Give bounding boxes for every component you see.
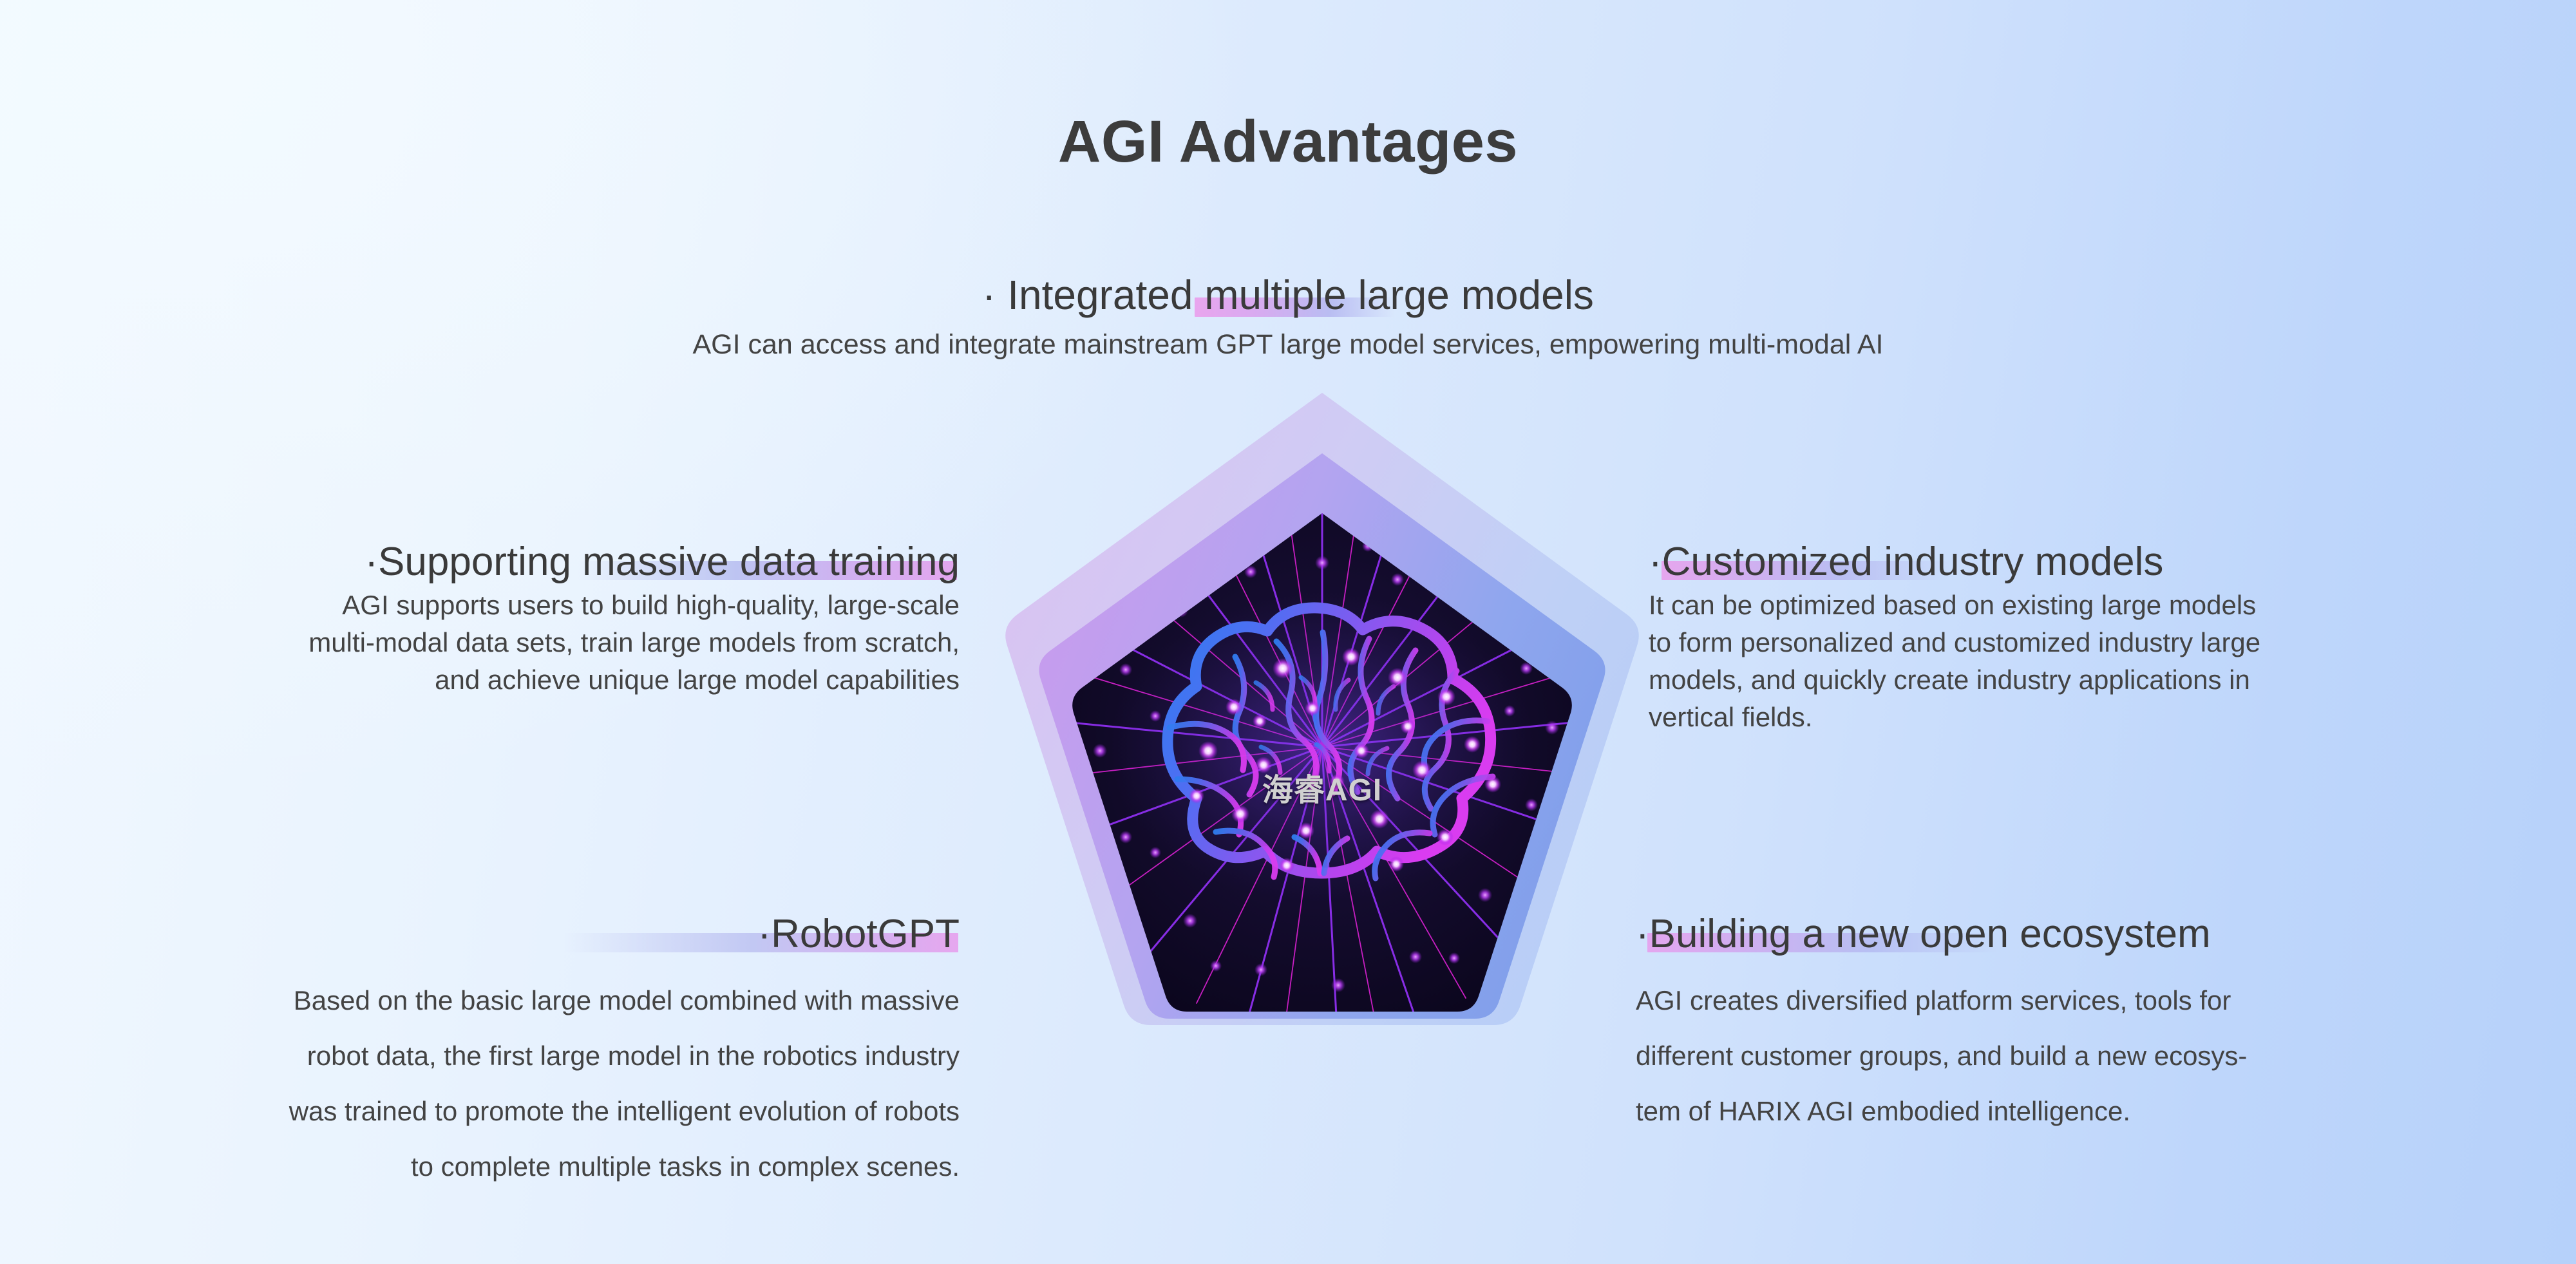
- section-heading-top: · Integrated multiple large models: [982, 274, 1594, 317]
- body-line: was trained to promote the intelligent e…: [26, 1084, 960, 1139]
- section-body-right-mid: It can be optimized based on existing la…: [1649, 587, 2486, 736]
- bullet-marker: ·: [1649, 540, 1662, 584]
- section-customized-industry-models: ·Customized industry models It can be op…: [1649, 541, 2486, 736]
- infographic-canvas: AGI Advantages · Integrated multiple lar…: [0, 0, 2576, 1264]
- body-line: vertical fields.: [1649, 699, 2486, 736]
- section-body-top: AGI can access and integrate mainstream …: [0, 326, 2576, 364]
- section-integrated-models: · Integrated multiple large models AGI c…: [0, 274, 2576, 364]
- section-massive-data-training: ·Supporting massive data training AGI su…: [39, 541, 960, 699]
- heading-text: RobotGPT: [771, 912, 960, 956]
- section-heading-left-bottom: ·RobotGPT: [757, 913, 960, 955]
- bullet-marker: ·: [365, 540, 378, 584]
- body-line: to form personalized and customized indu…: [1649, 624, 2486, 661]
- page-title: AGI Advantages: [0, 108, 2576, 176]
- bullet-marker: ·: [757, 912, 771, 956]
- bullet-marker: ·: [982, 272, 996, 318]
- heading-text: Supporting massive data training: [378, 540, 960, 584]
- section-body-left-mid: AGI supports users to build high-quality…: [39, 587, 960, 699]
- section-heading-right-bottom: ·Building a new open ecosystem: [1636, 913, 2211, 955]
- body-line: AGI supports users to build high-quality…: [39, 587, 960, 624]
- heading-text: Integrated multiple large models: [1007, 272, 1594, 318]
- center-pentagon-graphic: 海睿AGI: [1003, 386, 1641, 1085]
- heading-text: Customized industry models: [1662, 540, 2164, 584]
- pentagon-svg: [1003, 386, 1641, 1085]
- section-robotgpt: ·RobotGPT Based on the basic large model…: [26, 913, 960, 1194]
- body-line: models, and quickly create industry appl…: [1649, 661, 2486, 699]
- section-open-ecosystem: ·Building a new open ecosystem AGI creat…: [1636, 913, 2499, 1139]
- body-line: different customer groups, and build a n…: [1636, 1028, 2499, 1084]
- section-body-left-bottom: Based on the basic large model combined …: [26, 973, 960, 1194]
- bullet-marker: ·: [1636, 912, 1649, 956]
- body-line: AGI creates diversified platform service…: [1636, 973, 2499, 1028]
- section-body-right-bottom: AGI creates diversified platform service…: [1636, 973, 2499, 1139]
- body-line: and achieve unique large model capabilit…: [39, 661, 960, 699]
- heading-text: Building a new open ecosystem: [1649, 912, 2211, 956]
- body-line: It can be optimized based on existing la…: [1649, 587, 2486, 624]
- section-heading-right-mid: ·Customized industry models: [1649, 541, 2163, 583]
- body-line: multi-modal data sets, train large model…: [39, 624, 960, 661]
- body-line: robot data, the first large model in the…: [26, 1028, 960, 1084]
- body-line: Based on the basic large model combined …: [26, 973, 960, 1028]
- body-line: to complete multiple tasks in complex sc…: [26, 1139, 960, 1194]
- body-line: tem of HARIX AGI embodied intelligence.: [1636, 1084, 2499, 1139]
- section-heading-left-mid: ·Supporting massive data training: [365, 541, 960, 583]
